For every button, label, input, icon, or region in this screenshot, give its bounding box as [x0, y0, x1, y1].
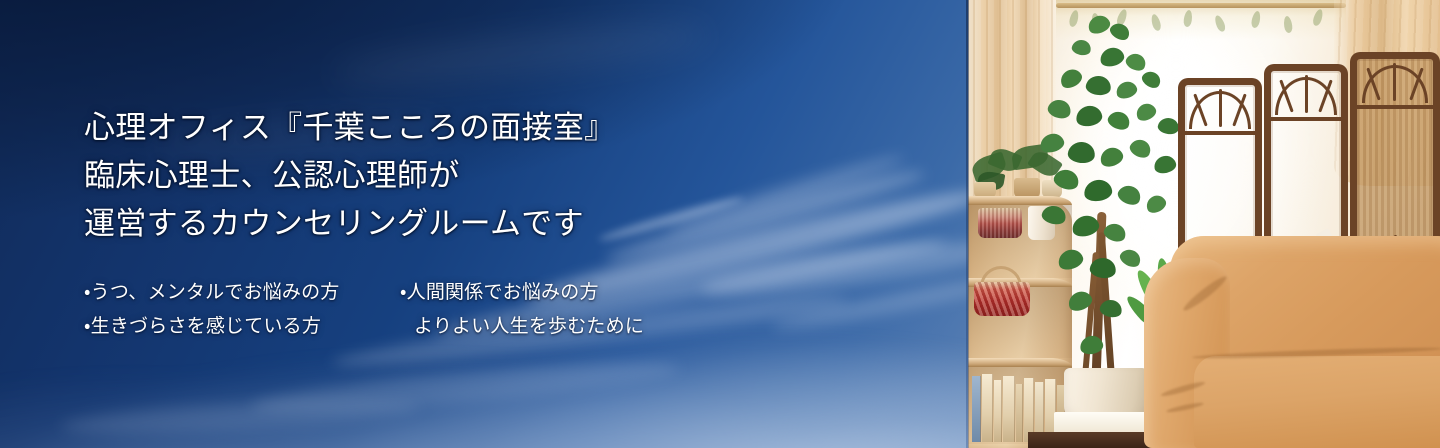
panel-seam-divider — [966, 0, 969, 448]
shelf-board — [968, 358, 1072, 367]
hanging-leaf-icon — [1068, 9, 1080, 27]
small-pot-icon — [1014, 178, 1040, 198]
sofa-seat — [1194, 356, 1440, 448]
book-icon — [994, 380, 1002, 442]
book-icon — [972, 376, 981, 442]
hero-banner: 心理オフィス『千葉こころの面接室』 臨床心理士、公認心理師が 運営するカウンセリ… — [0, 0, 1440, 448]
headline-line-1: 心理オフィス『千葉こころの面接室』 — [84, 104, 944, 152]
book-icon — [1003, 376, 1015, 442]
tan-sofa — [1156, 232, 1440, 448]
headline-line-2: 臨床心理士、公認心理師が — [84, 152, 944, 200]
divider-crossbar — [1271, 117, 1341, 121]
divider-crossbar — [1185, 131, 1255, 135]
bullet-item-depression: ・うつ、メンタルでお悩みの方 — [84, 276, 400, 310]
headline-block: 心理オフィス『千葉こころの面接室』 臨床心理士、公認心理師が 運営するカウンセリ… — [84, 104, 944, 248]
divider-rib — [1305, 75, 1308, 113]
bullet-item-hardship: ・生きづらさを感じている方 — [84, 310, 400, 344]
counseling-room-photo — [968, 0, 1440, 448]
bullet-item-relationships: ・人間関係でお悩みの方 — [400, 276, 599, 310]
bullet-list: ・うつ、メンタルでお悩みの方 ・人間関係でお悩みの方 ・生きづらさを感じている方… — [84, 276, 944, 344]
hanging-leaf-icon — [1213, 14, 1227, 33]
bullet-row: ・生きづらさを感じている方 よりよい人生を歩むために — [84, 310, 944, 344]
hanging-leaf-icon — [1250, 10, 1261, 28]
headline-line-3: 運営するカウンセリングルームです — [84, 200, 944, 248]
shelf-board — [968, 196, 1072, 205]
curtain-rod — [1056, 3, 1346, 8]
hanging-leaf-icon — [1183, 10, 1193, 28]
book-icon — [982, 374, 993, 442]
book-icon — [1016, 384, 1023, 442]
divider-crossbar — [1357, 105, 1433, 109]
hanging-leaf-icon — [1150, 13, 1162, 32]
bullet-row: ・うつ、メンタルでお悩みの方 ・人間関係でお悩みの方 — [84, 276, 944, 310]
divider-rib — [1219, 89, 1222, 127]
red-zigzag-basket-icon — [974, 282, 1030, 316]
hanging-leaf-icon — [1283, 16, 1293, 34]
bullet-item-better-life: よりよい人生を歩むために — [400, 310, 644, 344]
hanging-leaf-icon — [1312, 8, 1325, 27]
woven-basket-icon — [978, 208, 1022, 238]
